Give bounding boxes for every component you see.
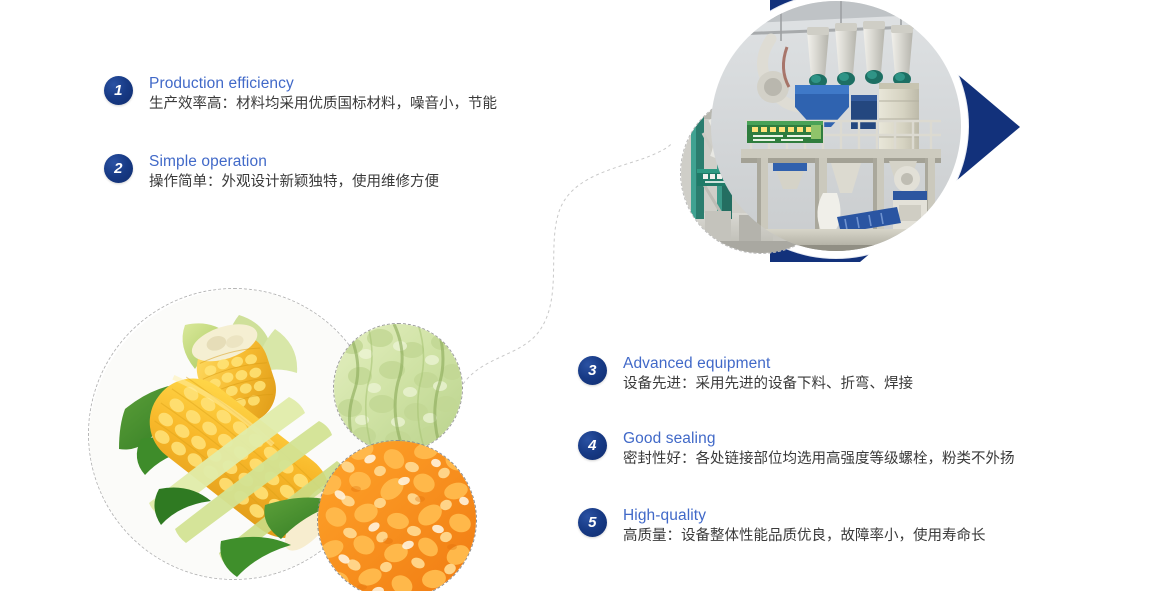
feature-subtitle-1: 生产效率高：材料均采用优质国标材料，噪音小，节能	[149, 94, 497, 115]
feature-text-5: High-quality 高质量：设备整体性能品质优良，故障率小，使用寿命长	[623, 506, 986, 547]
feature-item-3[interactable]: 3 Advanced equipment 设备先进：采用先进的设备下料、折弯、焊…	[578, 354, 913, 395]
feature-text-1: Production efficiency 生产效率高：材料均采用优质国标材料，…	[149, 74, 497, 115]
feature-heading-1: Production efficiency	[149, 74, 497, 93]
corn-photo-group	[85, 285, 475, 591]
feature-subtitle-4: 密封性好：各处链接部位均选用高强度等级螺栓，粉类不外扬	[623, 449, 1015, 470]
feature-heading-2: Simple operation	[149, 152, 439, 171]
feature-item-4[interactable]: 4 Good sealing 密封性好：各处链接部位均选用高强度等级螺栓，粉类不…	[578, 429, 1015, 470]
feature-text-3: Advanced equipment 设备先进：采用先进的设备下料、折弯、焊接	[623, 354, 913, 395]
feature-subtitle-3: 设备先进：采用先进的设备下料、折弯、焊接	[623, 374, 913, 395]
machinery-photo-group	[660, 0, 1154, 282]
feature-badge-4: 4	[578, 431, 607, 460]
feature-badge-5: 5	[578, 508, 607, 537]
feature-heading-4: Good sealing	[623, 429, 1015, 448]
green-corn-meal-photo	[333, 323, 463, 453]
feature-item-2[interactable]: 2 Simple operation 操作简单：外观设计新颖独特，使用维修方便	[104, 152, 439, 193]
feature-subtitle-2: 操作简单：外观设计新颖独特，使用维修方便	[149, 172, 439, 193]
feature-item-5[interactable]: 5 High-quality 高质量：设备整体性能品质优良，故障率小，使用寿命长	[578, 506, 986, 547]
feature-subtitle-5: 高质量：设备整体性能品质优良，故障率小，使用寿命长	[623, 526, 986, 547]
feature-badge-2: 2	[104, 154, 133, 183]
feature-text-2: Simple operation 操作简单：外观设计新颖独特，使用维修方便	[149, 152, 439, 193]
feature-heading-5: High-quality	[623, 506, 986, 525]
corn-grits-photo	[317, 440, 477, 591]
feature-heading-3: Advanced equipment	[623, 354, 913, 373]
feature-badge-1: 1	[104, 76, 133, 105]
feature-text-4: Good sealing 密封性好：各处链接部位均选用高强度等级螺栓，粉类不外扬	[623, 429, 1015, 470]
infographic-canvas: 1 Production efficiency 生产效率高：材料均采用优质国标材…	[0, 0, 1154, 591]
flour-milling-plant-photo	[711, 1, 961, 251]
feature-item-1[interactable]: 1 Production efficiency 生产效率高：材料均采用优质国标材…	[104, 74, 497, 115]
feature-badge-3: 3	[578, 356, 607, 385]
